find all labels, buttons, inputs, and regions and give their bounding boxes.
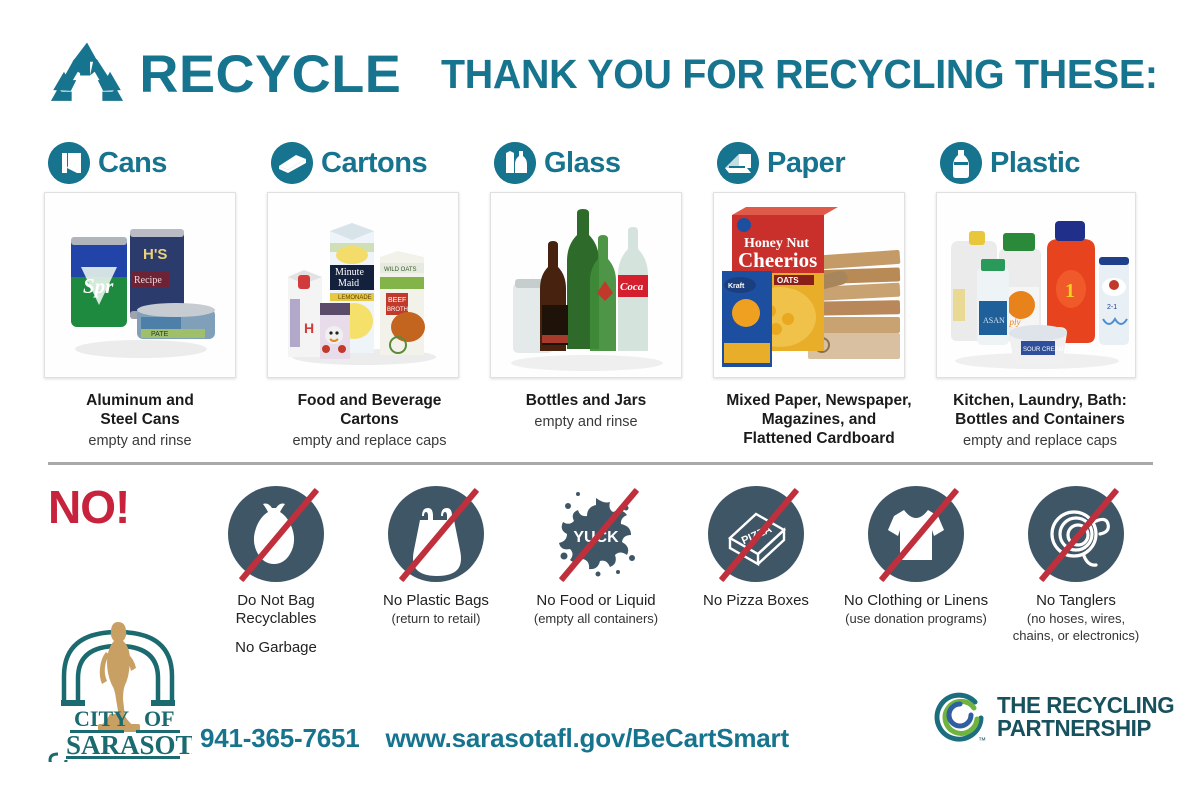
caption-line: Aluminum and <box>44 392 236 411</box>
prohibited-item-plastic-bags: No Plastic Bags (return to retail) <box>356 486 516 657</box>
svg-text:1: 1 <box>1065 280 1075 302</box>
svg-text:SOUR CREAM: SOUR CREAM <box>1023 347 1064 353</box>
no-heading: NO! <box>48 484 129 530</box>
prohibited-item-food-liquid: YUCK No Food or Liquid (empty all contai… <box>516 486 676 657</box>
caption-line: Cartons <box>267 411 472 430</box>
category-photo-cans: H'S Recipe Spr PATE <box>44 192 236 378</box>
svg-text:WILD OATS: WILD OATS <box>384 267 417 273</box>
brand-title: RECYCLE <box>139 48 401 101</box>
city-word: CITY <box>74 706 129 731</box>
prohibited-label: No Tanglers (no hoses, wires, chains, or… <box>1013 592 1139 644</box>
phone-number[interactable]: 941-365-7651 <box>200 723 360 754</box>
category-header: Paper <box>713 140 936 186</box>
website-url[interactable]: www.sarasotafl.gov/BeCartSmart <box>386 723 789 754</box>
caption-sub: empty and rinse <box>490 413 682 432</box>
prohibited-item-do-not-bag: Do Not Bag Recyclables No Garbage <box>196 486 356 657</box>
category-label: Cans <box>98 149 167 178</box>
svg-text:Minute: Minute <box>335 267 364 278</box>
partner-line-2: PARTNERSHIP <box>997 717 1174 740</box>
caption-line: Steel Cans <box>44 411 236 430</box>
category-cans: Cans H'S Recipe <box>44 140 267 451</box>
category-header: Cans <box>44 140 267 186</box>
category-photo-glass: Coca <box>490 192 682 378</box>
page-headline: THANK YOU FOR RECYCLING THESE: <box>441 54 1158 95</box>
prohibited-item-pizza-boxes: PIZZA No Pizza Boxes <box>676 486 836 657</box>
category-plastic: Plastic mply <box>936 140 1159 451</box>
plastic-bottle-icon <box>940 142 982 184</box>
svg-text:PATE: PATE <box>151 331 169 338</box>
category-caption: Aluminum and Steel Cans empty and rinse <box>44 392 236 451</box>
category-glass: Glass <box>490 140 713 451</box>
recycling-partnership-logo: ™ THE RECYCLING PARTNERSHIP <box>930 688 1180 746</box>
category-photo-plastic: mply ASAN 1 2-1 <box>936 192 1136 378</box>
category-header: Glass <box>490 140 713 186</box>
category-label: Cartons <box>321 149 427 178</box>
prohibited-items-row: Do Not Bag Recyclables No Garbage No Pla… <box>196 486 1156 657</box>
category-label: Glass <box>544 149 621 178</box>
sarasota-word: SARASOTA <box>66 730 192 760</box>
svg-text:Maid: Maid <box>338 278 359 289</box>
svg-text:BROTH: BROTH <box>387 307 408 313</box>
partner-line-1: THE RECYCLING <box>997 694 1174 717</box>
prohibited-item-clothing: No Clothing or Linens (use donation prog… <box>836 486 996 657</box>
caption-line: Flattened Cardboard <box>713 430 925 449</box>
svg-text:Coca: Coca <box>620 281 644 293</box>
caption-line: Bottles and Containers <box>936 411 1144 430</box>
plastic-bag-icon <box>388 486 484 582</box>
category-paper: Paper G <box>713 140 936 451</box>
caption-sub: empty and replace caps <box>936 432 1144 451</box>
tied-bag-icon <box>228 486 324 582</box>
svg-text:Recipe: Recipe <box>134 275 162 286</box>
tangler-hose-icon <box>1028 486 1124 582</box>
svg-text:™: ™ <box>978 736 986 745</box>
caption-line: Bottles and Jars <box>490 392 682 411</box>
caption-line: Mixed Paper, Newspaper, <box>713 392 925 411</box>
carton-icon <box>271 142 313 184</box>
category-header: Plastic <box>936 140 1159 186</box>
category-caption: Bottles and Jars empty and rinse <box>490 392 682 432</box>
prohibited-label: No Clothing or Linens (use donation prog… <box>844 592 988 627</box>
svg-text:H: H <box>304 320 314 336</box>
svg-text:BEEF: BEEF <box>388 297 406 304</box>
city-of-sarasota-seal: CITY OF SARASOTA <box>44 596 192 762</box>
prohibited-label: Do Not Bag Recyclables No Garbage <box>235 592 317 657</box>
category-header: Cartons <box>267 140 490 186</box>
category-photo-cartons: Minute Maid LEMONADE WILD OATS BEEF BROT… <box>267 192 459 378</box>
of-word: OF <box>144 706 175 731</box>
paper-stack-icon <box>717 142 759 184</box>
svg-text:Cheerios: Cheerios <box>738 248 817 272</box>
caption-line: Food and Beverage <box>267 392 472 411</box>
svg-text:Spr: Spr <box>83 274 114 298</box>
category-photo-paper: G Honey Nut Cheerios OATS <box>713 192 905 378</box>
prohibited-item-tanglers: No Tanglers (no hoses, wires, chains, or… <box>996 486 1156 657</box>
recycling-partnership-swirl-icon: ™ <box>930 688 988 746</box>
category-caption: Kitchen, Laundry, Bath: Bottles and Cont… <box>936 392 1144 451</box>
caption-line: Magazines, and <box>713 411 925 430</box>
can-icon <box>48 142 90 184</box>
prohibited-label: No Plastic Bags (return to retail) <box>383 592 489 627</box>
svg-text:Kraft: Kraft <box>728 283 745 290</box>
caption-sub: empty and rinse <box>44 432 236 451</box>
svg-text:2-1: 2-1 <box>1107 304 1117 311</box>
prohibited-label: No Food or Liquid (empty all containers) <box>534 592 658 627</box>
caption-line: Kitchen, Laundry, Bath: <box>936 392 1144 411</box>
svg-text:ASAN: ASAN <box>983 316 1005 325</box>
recycle-mobius-icon <box>48 41 126 107</box>
partner-name: THE RECYCLING PARTNERSHIP <box>997 694 1180 740</box>
contact-info: 941-365-7651 www.sarasotafl.gov/BeCartSm… <box>200 723 789 754</box>
tshirt-icon <box>868 486 964 582</box>
svg-text:H'S: H'S <box>143 246 167 263</box>
caption-sub: empty and replace caps <box>267 432 472 451</box>
pizza-box-icon: PIZZA <box>708 486 804 582</box>
glass-bottle-icon <box>494 142 536 184</box>
prohibited-label: No Pizza Boxes <box>703 592 809 610</box>
svg-text:OATS: OATS <box>777 276 799 285</box>
section-divider <box>48 462 1153 465</box>
svg-text:LEMONADE: LEMONADE <box>338 295 372 301</box>
category-cartons: Cartons Minute Maid LEMONADE <box>267 140 490 451</box>
yuck-splat-icon: YUCK <box>548 486 644 582</box>
accepted-materials-row: Cans H'S Recipe <box>44 140 1159 451</box>
category-caption: Food and Beverage Cartons empty and repl… <box>267 392 472 451</box>
category-label: Plastic <box>990 149 1080 178</box>
category-label: Paper <box>767 149 845 178</box>
poster-header: RECYCLE THANK YOU FOR RECYCLING THESE: <box>48 38 1187 110</box>
recycling-guide-poster: RECYCLE THANK YOU FOR RECYCLING THESE: C… <box>0 0 1200 800</box>
category-caption: Mixed Paper, Newspaper, Magazines, and F… <box>713 392 925 449</box>
